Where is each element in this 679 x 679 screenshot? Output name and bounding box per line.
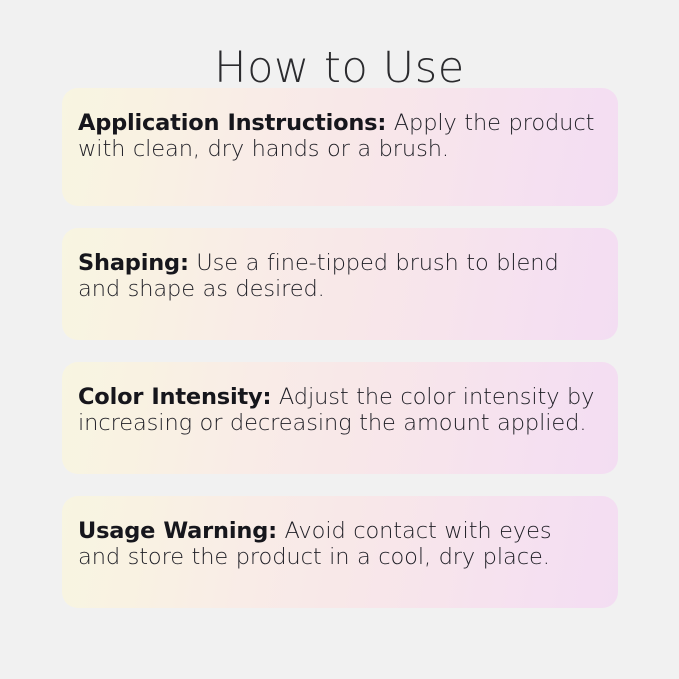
page-title: How to Use (0, 46, 679, 91)
instruction-card-list: Application Instructions: Apply the prod… (62, 88, 618, 608)
instruction-card-term: Application Instructions: (78, 110, 386, 136)
instruction-card-shaping: Shaping: Use a fine-tipped brush to blen… (62, 228, 618, 340)
instruction-card-term: Shaping: (78, 250, 189, 276)
instruction-card-term: Color Intensity: (78, 384, 271, 410)
instruction-card-text: Application Instructions: Apply the prod… (78, 110, 596, 162)
instruction-card-text: Usage Warning: Avoid contact with eyes a… (78, 518, 596, 570)
instruction-card-text: Shaping: Use a fine-tipped brush to blen… (78, 250, 596, 302)
instruction-card-color-intensity: Color Intensity: Adjust the color intens… (62, 362, 618, 474)
instruction-card-text: Color Intensity: Adjust the color intens… (78, 384, 596, 436)
instruction-card-application-instructions: Application Instructions: Apply the prod… (62, 88, 618, 206)
how-to-use-page: How to Use Application Instructions: App… (0, 0, 679, 679)
instruction-card-usage-warning: Usage Warning: Avoid contact with eyes a… (62, 496, 618, 608)
instruction-card-term: Usage Warning: (78, 518, 277, 544)
